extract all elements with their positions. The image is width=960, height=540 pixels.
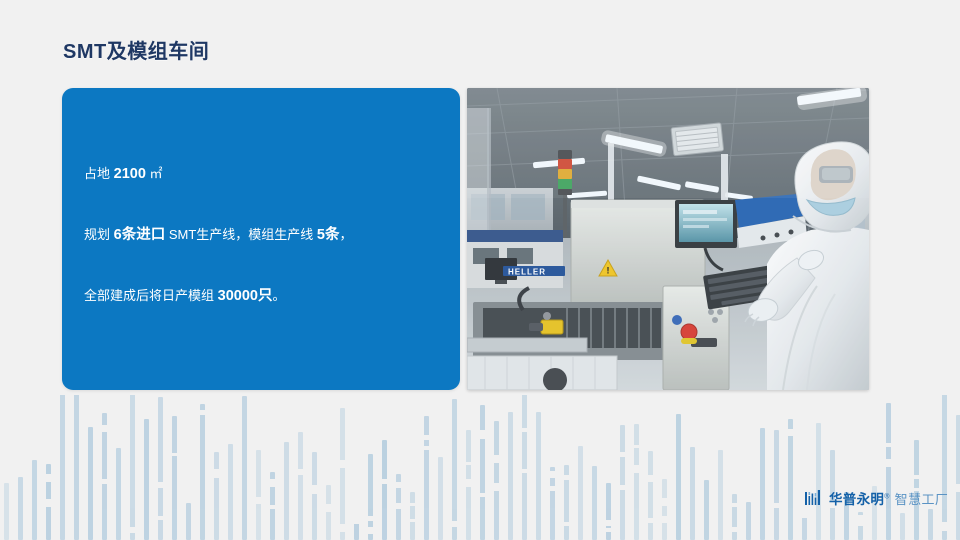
decorative-bar	[74, 395, 79, 540]
slide-canvas: SMT及模组车间 占地 2100 ㎡ 规划 6条进口 SMT生产线，模组生产线 …	[0, 0, 960, 540]
decorative-bar-gap	[480, 430, 485, 439]
decorative-bar	[32, 460, 37, 540]
decorative-bar-gap	[424, 446, 429, 450]
decorative-bar-gap	[648, 518, 653, 523]
info-line-lines-value1: 6条进口	[114, 227, 166, 243]
decorative-bar	[144, 419, 149, 540]
decorative-bar	[550, 467, 555, 540]
decorative-bar	[228, 444, 233, 540]
decorative-bar	[760, 428, 765, 540]
workshop-photo: HELLER !	[467, 88, 869, 390]
decorative-bar-gap	[340, 460, 345, 468]
decorative-bar	[298, 432, 303, 540]
decorative-bar	[774, 430, 779, 540]
info-card-body: 占地 2100 ㎡ 规划 6条进口 SMT生产线，模组生产线 5条， 全部建成后…	[84, 164, 442, 307]
decorative-bar	[158, 397, 163, 540]
decorative-bar-gap	[200, 410, 205, 415]
info-line-lines-prefix: 规划	[84, 227, 114, 242]
decorative-bar	[88, 427, 93, 540]
decorative-bar	[620, 425, 625, 540]
info-line-lines-value2: 5条	[317, 227, 340, 243]
decorative-bar	[718, 450, 723, 540]
decorative-bar-pattern	[0, 395, 960, 540]
decorative-bar-gap	[158, 482, 163, 488]
decorative-bar	[312, 452, 317, 540]
decorative-bar-gap	[256, 497, 261, 504]
decorative-bar	[186, 503, 191, 540]
decorative-bar-gap	[550, 471, 555, 478]
decorative-bar	[410, 492, 415, 540]
decorative-bar-gap	[620, 485, 625, 490]
decorative-bar	[676, 414, 681, 540]
decorative-bar-gap	[774, 503, 779, 508]
decorative-bar-gap	[634, 445, 639, 448]
decorative-bar-gap	[270, 479, 275, 487]
decorative-bar-gap	[914, 475, 919, 479]
decorative-bar-gap	[396, 503, 401, 509]
decorative-bar	[746, 502, 751, 540]
decorative-bar	[172, 416, 177, 540]
info-line-output-suffix: 。	[272, 288, 285, 303]
decorative-bar	[942, 395, 947, 540]
decorative-bar	[46, 464, 51, 540]
decorative-bar-gap	[494, 455, 499, 463]
decorative-bar-gap	[942, 522, 947, 531]
decorative-bar-gap	[354, 519, 359, 524]
decorative-bar-gap	[410, 519, 415, 522]
decorative-bar-gap	[326, 504, 331, 512]
decorative-bar	[130, 395, 135, 540]
decorative-bar-gap	[172, 453, 177, 456]
info-line-area-value: 2100	[114, 166, 146, 182]
decorative-bar	[606, 483, 611, 540]
decorative-bar-gap	[382, 479, 387, 484]
decorative-bar	[200, 404, 205, 540]
info-line-lines-mid: SMT生产线，模组生产线	[165, 227, 317, 242]
decorative-bar	[116, 448, 121, 540]
info-line-area-prefix: 占地	[84, 166, 114, 181]
decorative-bar	[466, 430, 471, 540]
info-line-area-unit: ㎡	[146, 166, 163, 181]
decorative-bar-gap	[886, 459, 891, 467]
decorative-bar-gap	[102, 425, 107, 432]
decorative-bar	[564, 465, 569, 540]
decorative-bar	[368, 454, 373, 540]
decorative-bar	[900, 513, 905, 540]
decorative-bar-gap	[130, 527, 135, 533]
decorative-bar	[956, 415, 960, 540]
decorative-bar	[270, 472, 275, 540]
decorative-bar	[788, 419, 793, 540]
decorative-bar	[690, 447, 695, 540]
decorative-bar	[60, 395, 65, 540]
decorative-bar	[256, 450, 261, 540]
decorative-bar	[18, 477, 23, 540]
decorative-bar-gap	[564, 475, 569, 480]
decorative-bar	[214, 452, 219, 540]
decorative-bar	[382, 440, 387, 540]
info-card: 占地 2100 ㎡ 规划 6条进口 SMT生产线，模组生产线 5条， 全部建成后…	[62, 88, 460, 390]
decorative-bar-gap	[788, 429, 793, 436]
decorative-bar	[886, 403, 891, 540]
decorative-bar-gap	[466, 479, 471, 487]
info-line-output-value: 30000只	[218, 288, 273, 304]
decorative-bar-gap	[606, 528, 611, 532]
decorative-bar	[522, 395, 527, 540]
decorative-bar-gap	[102, 479, 107, 484]
decorative-bar-gap	[550, 486, 555, 491]
decorative-bar-gap	[662, 516, 667, 523]
info-line-area: 占地 2100 ㎡	[84, 164, 442, 185]
info-line-lines: 规划 6条进口 SMT生产线，模组生产线 5条，	[84, 225, 442, 246]
decorative-bar	[438, 457, 443, 540]
decorative-bar-gap	[270, 505, 275, 509]
decorative-bar-gap	[886, 443, 891, 447]
decorative-bar-gap	[424, 435, 429, 440]
decorative-bar-gap	[452, 521, 457, 527]
logo-mark-icon	[804, 488, 824, 508]
decorative-bar-gap	[298, 469, 303, 474]
logo-registered-mark: ®	[884, 494, 889, 501]
decorative-bar-gap	[620, 452, 625, 457]
decorative-bar-gap	[648, 475, 653, 482]
decorative-bar-gap	[158, 516, 163, 520]
decorative-bar-gap	[522, 469, 527, 473]
logo-sub-name: 智慧工厂	[895, 489, 949, 508]
decorative-bar-gap	[46, 499, 51, 507]
decorative-bar-gap	[410, 503, 415, 506]
decorative-bar	[648, 451, 653, 540]
decorative-bar	[340, 408, 345, 540]
decorative-bar-gap	[368, 527, 373, 534]
decorative-bar	[928, 509, 933, 540]
decorative-bar-gap	[46, 474, 51, 482]
decorative-bar-gap	[522, 428, 527, 432]
decorative-bar-gap	[956, 484, 960, 492]
decorative-bar	[354, 514, 359, 540]
decorative-bar	[592, 466, 597, 540]
decorative-bar-gap	[606, 520, 611, 526]
decorative-bar-gap	[214, 469, 219, 478]
decorative-bar	[508, 412, 513, 540]
decorative-bar	[662, 479, 667, 540]
decorative-bar-gap	[368, 516, 373, 521]
decorative-bar	[536, 412, 541, 540]
decorative-bar	[802, 505, 807, 540]
decorative-bar	[732, 494, 737, 540]
logo-brand-name: 华普永明®	[829, 488, 890, 508]
decorative-bar-gap	[732, 503, 737, 507]
decorative-bar	[102, 413, 107, 540]
decorative-bar	[284, 442, 289, 540]
decorative-bar	[634, 424, 639, 540]
decorative-bar	[494, 421, 499, 540]
decorative-bar	[816, 423, 821, 540]
decorative-bar-gap	[494, 483, 499, 491]
decorative-bar-gap	[732, 527, 737, 532]
decorative-bar-gap	[466, 462, 471, 465]
decorative-bar-gap	[340, 524, 345, 532]
workshop-photo-illustration: HELLER !	[467, 88, 869, 390]
decorative-bar	[480, 405, 485, 540]
decorative-bar	[578, 446, 583, 540]
decorative-bar	[858, 512, 863, 540]
brand-logo: 华普永明® 智慧工厂	[804, 488, 948, 508]
decorative-bar-gap	[662, 498, 667, 506]
decorative-bar	[4, 483, 9, 540]
decorative-bar-gap	[312, 485, 317, 494]
page-title: SMT及模组车间	[63, 35, 209, 64]
decorative-bar-gap	[634, 465, 639, 473]
decorative-bar-gap	[480, 493, 485, 497]
decorative-bar	[242, 396, 247, 540]
decorative-bar-gap	[564, 522, 569, 526]
info-line-output: 全部建成后将日产模组 30000只。	[84, 286, 442, 307]
decorative-bar	[424, 416, 429, 540]
decorative-bar-gap	[396, 482, 401, 488]
decorative-bar	[704, 480, 709, 540]
decorative-bar	[326, 485, 331, 540]
info-line-output-prefix: 全部建成后将日产模组	[84, 288, 218, 303]
decorative-bar	[396, 474, 401, 540]
info-line-lines-suffix: ，	[339, 227, 352, 242]
decorative-bar-gap	[858, 515, 863, 521]
decorative-bar	[452, 399, 457, 540]
